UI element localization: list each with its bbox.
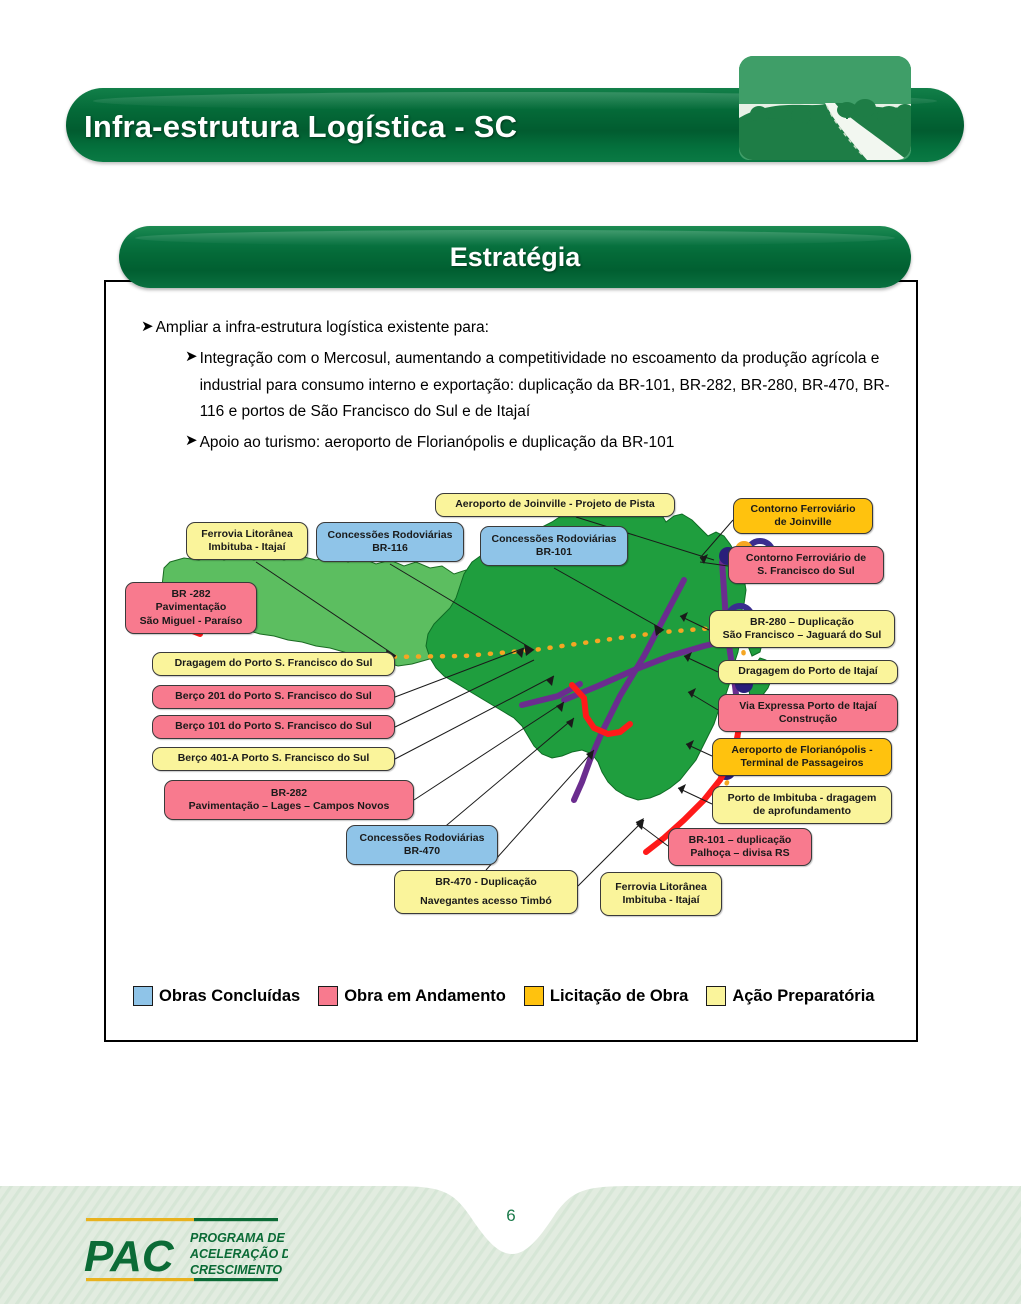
chevron-bullet-icon: ➤: [141, 316, 156, 340]
map-label-aeroporto-florianopolis[interactable]: Aeroporto de Florianópolis - Terminal de…: [712, 738, 892, 776]
pac-logo-line3: CRESCIMENTO: [190, 1263, 282, 1277]
map-label-text: BR -282 Pavimentação São Miguel - Paraís…: [140, 588, 243, 627]
map-label-br282-sao-miguel-paraiso[interactable]: BR -282 Pavimentação São Miguel - Paraís…: [125, 582, 257, 634]
map-label-contorno-ferroviario-joinville[interactable]: Contorno Ferroviário de Joinville: [733, 498, 873, 534]
legend-item-obra-em-andamento: Obra em Andamento: [318, 986, 506, 1006]
map-label-berco-401a-sfs[interactable]: Berço 401-A Porto S. Francisco do Sul: [152, 747, 395, 771]
legend-swatch-pink: [318, 986, 338, 1006]
map-label-text: Ferrovia Litorânea Imbituba - Itajaí: [201, 528, 293, 554]
bullet-text: Ampliar a infra-estrutura logística exis…: [156, 316, 489, 340]
map-label-text: Concessões Rodoviárias BR-101: [492, 533, 617, 559]
svg-text:PAC: PAC: [84, 1232, 175, 1281]
pac-logo-svg: PAC PROGRAMA DE ACELERAÇÃO DO CRESCIMENT…: [78, 1216, 288, 1286]
legend-swatch-blue: [133, 986, 153, 1006]
map-label-br280-duplicacao[interactable]: BR-280 – Duplicação São Francisco – Jagu…: [709, 610, 895, 648]
chevron-bullet-icon: ➤: [185, 430, 200, 457]
legend-item-obras-concluidas: Obras Concluídas: [133, 986, 300, 1006]
bullet-text: Integração com o Mercosul, aumentando a …: [200, 346, 901, 426]
map-label-aeroporto-joinville[interactable]: Aeroporto de Joinville - Projeto de Pist…: [435, 493, 675, 517]
map-label-br282-lages-campos-novos[interactable]: BR-282 Pavimentação – Lages – Campos Nov…: [164, 780, 414, 820]
map-label-text: Dragagem do Porto S. Francisco do Sul: [175, 657, 373, 670]
map-legend: Obras Concluídas Obra em Andamento Licit…: [133, 982, 875, 1010]
bullet-text: Apoio ao turismo: aeroporto de Florianóp…: [200, 430, 675, 457]
infrastructure-map: Aeroporto de Joinville - Projeto de Pist…: [104, 470, 918, 970]
map-label-berco-101-sfs[interactable]: Berço 101 do Porto S. Francisco do Sul: [152, 715, 395, 739]
map-label-text: Aeroporto de Joinville - Projeto de Pist…: [455, 498, 655, 511]
strategy-title: Estratégia: [119, 226, 911, 288]
map-label-br470-duplicacao[interactable]: BR-470 - Duplicação Navegantes acesso Ti…: [394, 870, 578, 914]
legend-item-licitacao-de-obra: Licitação de Obra: [524, 986, 688, 1006]
map-label-text: BR-470 - Duplicação Navegantes acesso Ti…: [420, 873, 552, 911]
map-label-text: Berço 101 do Porto S. Francisco do Sul: [175, 720, 372, 733]
landscape-road-icon: [739, 56, 911, 160]
map-label-via-expressa-itajai[interactable]: Via Expressa Porto de Itajaí Construção: [718, 694, 898, 732]
bullet-item: ➤ Apoio ao turismo: aeroporto de Florian…: [185, 430, 901, 457]
map-label-dragagem-porto-sfs[interactable]: Dragagem do Porto S. Francisco do Sul: [152, 652, 395, 676]
map-label-br101-duplicacao-palhoca[interactable]: BR-101 – duplicação Palhoça – divisa RS: [668, 828, 812, 866]
bullet-item: ➤ Ampliar a infra-estrutura logística ex…: [141, 316, 901, 340]
map-label-text: BR-282 Pavimentação – Lages – Campos Nov…: [189, 787, 390, 813]
map-label-text: BR-280 – Duplicação São Francisco – Jagu…: [723, 616, 882, 642]
map-label-ferrovia-litoranea-norte[interactable]: Ferrovia Litorânea Imbituba - Itajaí: [186, 522, 308, 560]
legend-swatch-gold: [524, 986, 544, 1006]
map-label-text: Via Expressa Porto de Itajaí Construção: [739, 700, 877, 726]
bullet-item: ➤ Integração com o Mercosul, aumentando …: [185, 346, 901, 426]
map-label-concessoes-br470[interactable]: Concessões Rodoviárias BR-470: [346, 825, 498, 865]
map-label-contorno-ferroviario-sfs[interactable]: Contorno Ferroviário de S. Francisco do …: [728, 546, 884, 584]
map-label-text: Aeroporto de Florianópolis - Terminal de…: [731, 744, 872, 770]
strategy-bullet-list: ➤ Ampliar a infra-estrutura logística ex…: [141, 316, 901, 461]
legend-item-acao-preparatoria: Ação Preparatória: [706, 986, 874, 1006]
map-label-text: Porto de Imbituba - dragagem de aprofund…: [728, 792, 877, 818]
map-label-concessoes-br116[interactable]: Concessões Rodoviárias BR-116: [316, 522, 464, 562]
pac-logo-line2: ACELERAÇÃO DO: [189, 1246, 288, 1261]
legend-label: Obras Concluídas: [159, 987, 300, 1006]
legend-swatch-paleyellow: [706, 986, 726, 1006]
pac-logo-line1: PROGRAMA DE: [190, 1231, 285, 1245]
map-label-porto-imbituba-dragagem[interactable]: Porto de Imbituba - dragagem de aprofund…: [712, 786, 892, 824]
map-label-text: Dragagem do Porto de Itajaí: [738, 665, 877, 678]
map-label-text: Ferrovia Litorânea Imbituba - Itajaí: [615, 881, 707, 907]
landscape-road-svg: [739, 56, 911, 160]
legend-label: Licitação de Obra: [550, 987, 688, 1006]
map-label-text: Contorno Ferroviário de S. Francisco do …: [746, 552, 866, 578]
legend-label: Ação Preparatória: [732, 987, 874, 1006]
map-label-text: Concessões Rodoviárias BR-470: [360, 832, 485, 858]
legend-label: Obra em Andamento: [344, 987, 506, 1006]
map-label-text: Berço 201 do Porto S. Francisco do Sul: [175, 690, 372, 703]
chevron-bullet-icon: ➤: [185, 346, 200, 426]
map-label-berco-201-sfs[interactable]: Berço 201 do Porto S. Francisco do Sul: [152, 685, 395, 709]
map-label-text: BR-101 – duplicação Palhoça – divisa RS: [689, 834, 792, 860]
map-label-text: Contorno Ferroviário de Joinville: [750, 503, 855, 529]
map-label-text: Berço 401-A Porto S. Francisco do Sul: [178, 752, 370, 765]
page-title: Infra-estrutura Logística - SC: [84, 104, 704, 150]
page-number: 6: [476, 1206, 546, 1226]
pac-logo: PAC PROGRAMA DE ACELERAÇÃO DO CRESCIMENT…: [78, 1216, 288, 1286]
map-label-text: Concessões Rodoviárias BR-116: [328, 529, 453, 555]
map-label-concessoes-br101[interactable]: Concessões Rodoviárias BR-101: [480, 526, 628, 566]
map-label-dragagem-porto-itajai[interactable]: Dragagem do Porto de Itajaí: [718, 660, 898, 684]
map-label-ferrovia-litoranea-sul[interactable]: Ferrovia Litorânea Imbituba - Itajaí: [600, 872, 722, 916]
